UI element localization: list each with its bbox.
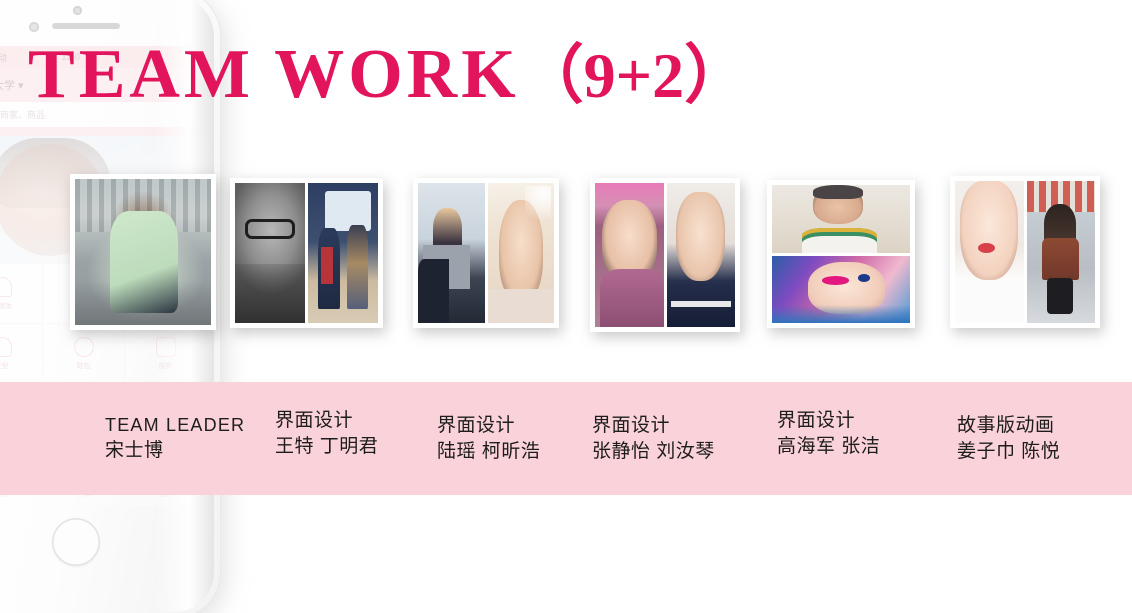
member-photo-card[interactable] [950, 176, 1100, 328]
member-photo-card[interactable] [767, 180, 915, 328]
member-photo [75, 179, 211, 325]
member-photo [488, 183, 555, 323]
member-photo [955, 181, 1024, 323]
member-role: TEAM LEADER [105, 413, 245, 438]
member-caption: 界面设计 王特 丁明君 [275, 408, 378, 460]
member-role: 界面设计 [437, 413, 540, 439]
home-button[interactable] [52, 518, 100, 566]
member-photo [772, 256, 910, 324]
member-photo [418, 183, 485, 323]
member-role: 界面设计 [592, 413, 715, 439]
member-names: 张静怡 刘汝琴 [592, 439, 715, 465]
member-names: 王特 丁明君 [275, 434, 378, 460]
member-names: 宋士博 [105, 438, 245, 464]
member-photo [667, 183, 736, 327]
member-role: 故事版动画 [957, 413, 1060, 439]
member-caption: 界面设计 陆瑶 柯昕浩 [437, 413, 540, 465]
member-photo-card[interactable] [413, 178, 559, 328]
caption-band: TEAM LEADER 宋士博 界面设计 王特 丁明君 界面设计 陆瑶 柯昕浩 … [0, 382, 1132, 495]
member-photo [595, 183, 664, 327]
page-title-main: TEAM WORK [28, 36, 520, 113]
member-role: 界面设计 [777, 408, 880, 434]
slide-canvas: 中国移动 12:0 ▮▮ 唯三大学 ▾ 搜索商家、商品 [0, 0, 1132, 613]
member-caption: 界面设计 张静怡 刘汝琴 [592, 413, 715, 465]
member-photo-card[interactable] [70, 174, 216, 330]
member-caption: 故事版动画 姜子巾 陈悦 [957, 413, 1060, 465]
member-photo [308, 183, 378, 323]
member-names: 高海军 张洁 [777, 434, 880, 460]
member-caption: 界面设计 高海军 张洁 [777, 408, 880, 460]
member-photo-card[interactable] [590, 178, 740, 332]
member-names: 陆瑶 柯昕浩 [437, 439, 540, 465]
member-caption: TEAM LEADER 宋士博 [105, 413, 245, 464]
member-role: 界面设计 [275, 408, 378, 434]
member-photo [1027, 181, 1096, 323]
member-photo-card[interactable] [230, 178, 383, 328]
member-names: 姜子巾 陈悦 [957, 439, 1060, 465]
member-photo [235, 183, 305, 323]
page-title-paren: （9+2） [520, 40, 748, 111]
page-title: TEAM WORK（9+2） [28, 40, 748, 110]
member-photo [772, 185, 910, 253]
